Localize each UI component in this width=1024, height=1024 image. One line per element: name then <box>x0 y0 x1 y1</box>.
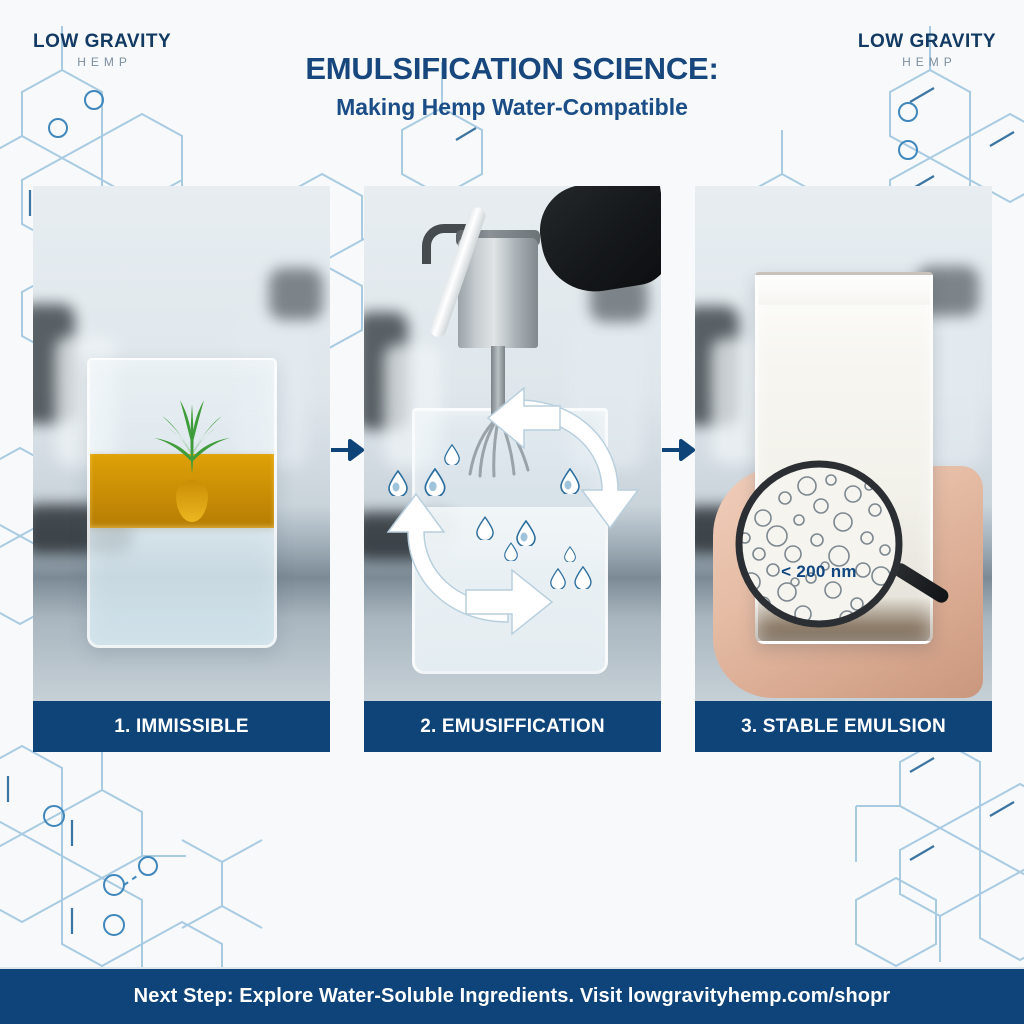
panel-2-photo <box>364 186 661 701</box>
logo-main-text: LOW GRAVITY <box>858 32 996 52</box>
header-title-block: EMULSIFICATION SCIENCE: Making Hemp Wate… <box>0 52 1024 120</box>
water-droplet-icon <box>444 444 460 465</box>
page-title: EMULSIFICATION SCIENCE: <box>0 52 1024 86</box>
panel-step-3: < 200 nm 3. STABLE EMULSION <box>695 186 992 752</box>
panel-3-photo: < 200 nm <box>695 186 992 701</box>
process-panels-row: 1. IMMISSIBLE <box>33 186 993 752</box>
water-droplet-icon <box>424 468 446 496</box>
panel-gap-2 <box>661 186 695 752</box>
water-droplet-icon <box>560 468 580 494</box>
water-droplet-icon <box>574 566 592 589</box>
panel-caption-label: 2. EMUSIFFICATION <box>420 716 605 738</box>
footer-cta-bar[interactable]: Next Step: Explore Water-Soluble Ingredi… <box>0 967 1024 1024</box>
panel-1-caption-bar: 1. IMMISSIBLE <box>33 701 330 752</box>
water-droplet-icon <box>550 568 566 589</box>
lab-blur-shape <box>269 268 323 320</box>
panel-caption-label: 3. STABLE EMULSION <box>741 716 946 738</box>
water-droplet-icon <box>504 542 518 561</box>
panel-1-photo <box>33 186 330 701</box>
circular-arrows-icon <box>370 386 655 636</box>
panel-gap-1 <box>330 186 364 752</box>
water-droplet-icon <box>564 546 576 562</box>
panel-caption-label: 1. IMMISSIBLE <box>114 716 249 738</box>
water-layer <box>90 528 274 645</box>
foam-head <box>758 275 930 305</box>
arrow-right-icon <box>330 438 364 462</box>
water-droplet-icon <box>516 520 536 546</box>
water-droplet-icon <box>476 516 494 540</box>
footer-cta-text: Next Step: Explore Water-Soluble Ingredi… <box>134 985 891 1008</box>
page-subtitle: Making Hemp Water-Compatible <box>0 95 1024 120</box>
beaker-icon <box>87 358 277 648</box>
magnifier-icon <box>733 458 905 630</box>
panel-3-caption-bar: 3. STABLE EMULSION <box>695 701 992 752</box>
panel-2-caption-bar: 2. EMUSIFFICATION <box>364 701 661 752</box>
arrow-right-icon <box>661 438 695 462</box>
logo-main-text: LOW GRAVITY <box>33 32 171 52</box>
magnifier-size-label: < 200 nm <box>733 562 905 582</box>
water-droplet-icon <box>388 470 408 496</box>
hemp-leaf-icon <box>146 396 238 474</box>
panel-step-1: 1. IMMISSIBLE <box>33 186 330 752</box>
panel-step-2: 2. EMUSIFFICATION <box>364 186 661 752</box>
